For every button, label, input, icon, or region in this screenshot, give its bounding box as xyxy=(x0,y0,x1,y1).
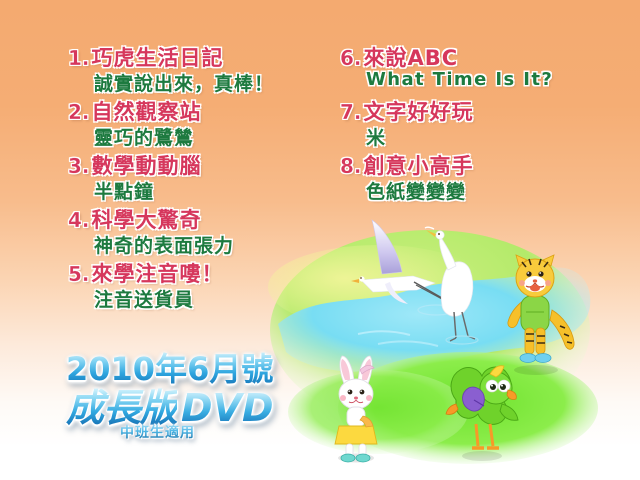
lesson-title-8: 創意小高手 xyxy=(364,150,474,180)
lesson-list-right-column: 6. 來說ABC What Time Is It? 7. 文字好好玩 米 8. … xyxy=(340,42,610,204)
lesson-subtitle-row-6: What Time Is It? xyxy=(340,69,610,96)
lesson-list-left-column: 1. 巧虎生活日記 誠實說出來，真棒！ 2. 自然觀察站 靈巧的鷺鷥 3. 數學… xyxy=(68,42,328,312)
dvd-edition-row: 成長版 DVD xyxy=(66,388,326,428)
lesson-subtitle-5: 注音送貨員 xyxy=(94,285,194,312)
dvd-issue-date: 2010年6月號 xyxy=(66,352,326,386)
lesson-subtitle-2: 靈巧的鷺鷥 xyxy=(94,123,194,150)
lesson-subtitle-row-4: 神奇的表面張力 xyxy=(68,231,328,258)
lesson-number-3: 3. xyxy=(68,154,90,178)
lesson-subtitle-row-3: 半點鐘 xyxy=(68,177,328,204)
lesson-number-1: 1. xyxy=(68,46,90,70)
lesson-title-6: 來說ABC xyxy=(364,42,459,72)
lesson-row-3[interactable]: 3. 數學動動腦 xyxy=(68,150,328,177)
lesson-subtitle-3: 半點鐘 xyxy=(94,177,154,204)
lesson-row-4[interactable]: 4. 科學大驚奇 xyxy=(68,204,328,231)
lesson-number-6: 6. xyxy=(340,46,362,70)
lesson-subtitle-row-8: 色紙變變變 xyxy=(340,177,610,204)
lesson-title-2: 自然觀察站 xyxy=(92,96,202,126)
lesson-title-7: 文字好好玩 xyxy=(364,96,474,126)
lesson-subtitle-6: What Time Is It? xyxy=(366,69,553,90)
lesson-row-8[interactable]: 8. 創意小高手 xyxy=(340,150,610,177)
lesson-title-5: 來學注音嘍！ xyxy=(92,258,224,288)
lesson-number-7: 7. xyxy=(340,100,362,124)
lesson-subtitle-row-5: 注音送貨員 xyxy=(68,285,328,312)
lesson-subtitle-row-2: 靈巧的鷺鷥 xyxy=(68,123,328,150)
lesson-row-7[interactable]: 7. 文字好好玩 xyxy=(340,96,610,123)
lesson-number-2: 2. xyxy=(68,100,90,124)
lesson-row-6[interactable]: 6. 來說ABC xyxy=(340,42,610,69)
lesson-row-1[interactable]: 1. 巧虎生活日記 xyxy=(68,42,328,69)
lesson-title-3: 數學動動腦 xyxy=(92,150,202,180)
lesson-subtitle-row-7: 米 xyxy=(340,123,610,150)
lesson-subtitle-7: 米 xyxy=(366,123,386,150)
dvd-menu-screen: 1. 巧虎生活日記 誠實說出來，真棒！ 2. 自然觀察站 靈巧的鷺鷥 3. 數學… xyxy=(0,0,640,480)
lesson-row-5[interactable]: 5. 來學注音嘍！ xyxy=(68,258,328,285)
lesson-title-4: 科學大驚奇 xyxy=(92,204,202,234)
dvd-title-block: 2010年6月號 成長版 DVD xyxy=(66,352,326,428)
lesson-subtitle-4: 神奇的表面張力 xyxy=(94,231,234,258)
lesson-subtitle-8: 色紙變變變 xyxy=(366,177,466,204)
lesson-number-5: 5. xyxy=(68,262,90,286)
lesson-row-2[interactable]: 2. 自然觀察站 xyxy=(68,96,328,123)
lesson-subtitle-1: 誠實說出來，真棒！ xyxy=(94,69,274,96)
lesson-subtitle-row-1: 誠實說出來，真棒！ xyxy=(68,69,328,96)
lesson-title-1: 巧虎生活日記 xyxy=(92,42,224,72)
lesson-number-8: 8. xyxy=(340,154,362,178)
dvd-audience-note: 中班生適用 xyxy=(120,422,195,442)
lesson-number-4: 4. xyxy=(68,208,90,232)
